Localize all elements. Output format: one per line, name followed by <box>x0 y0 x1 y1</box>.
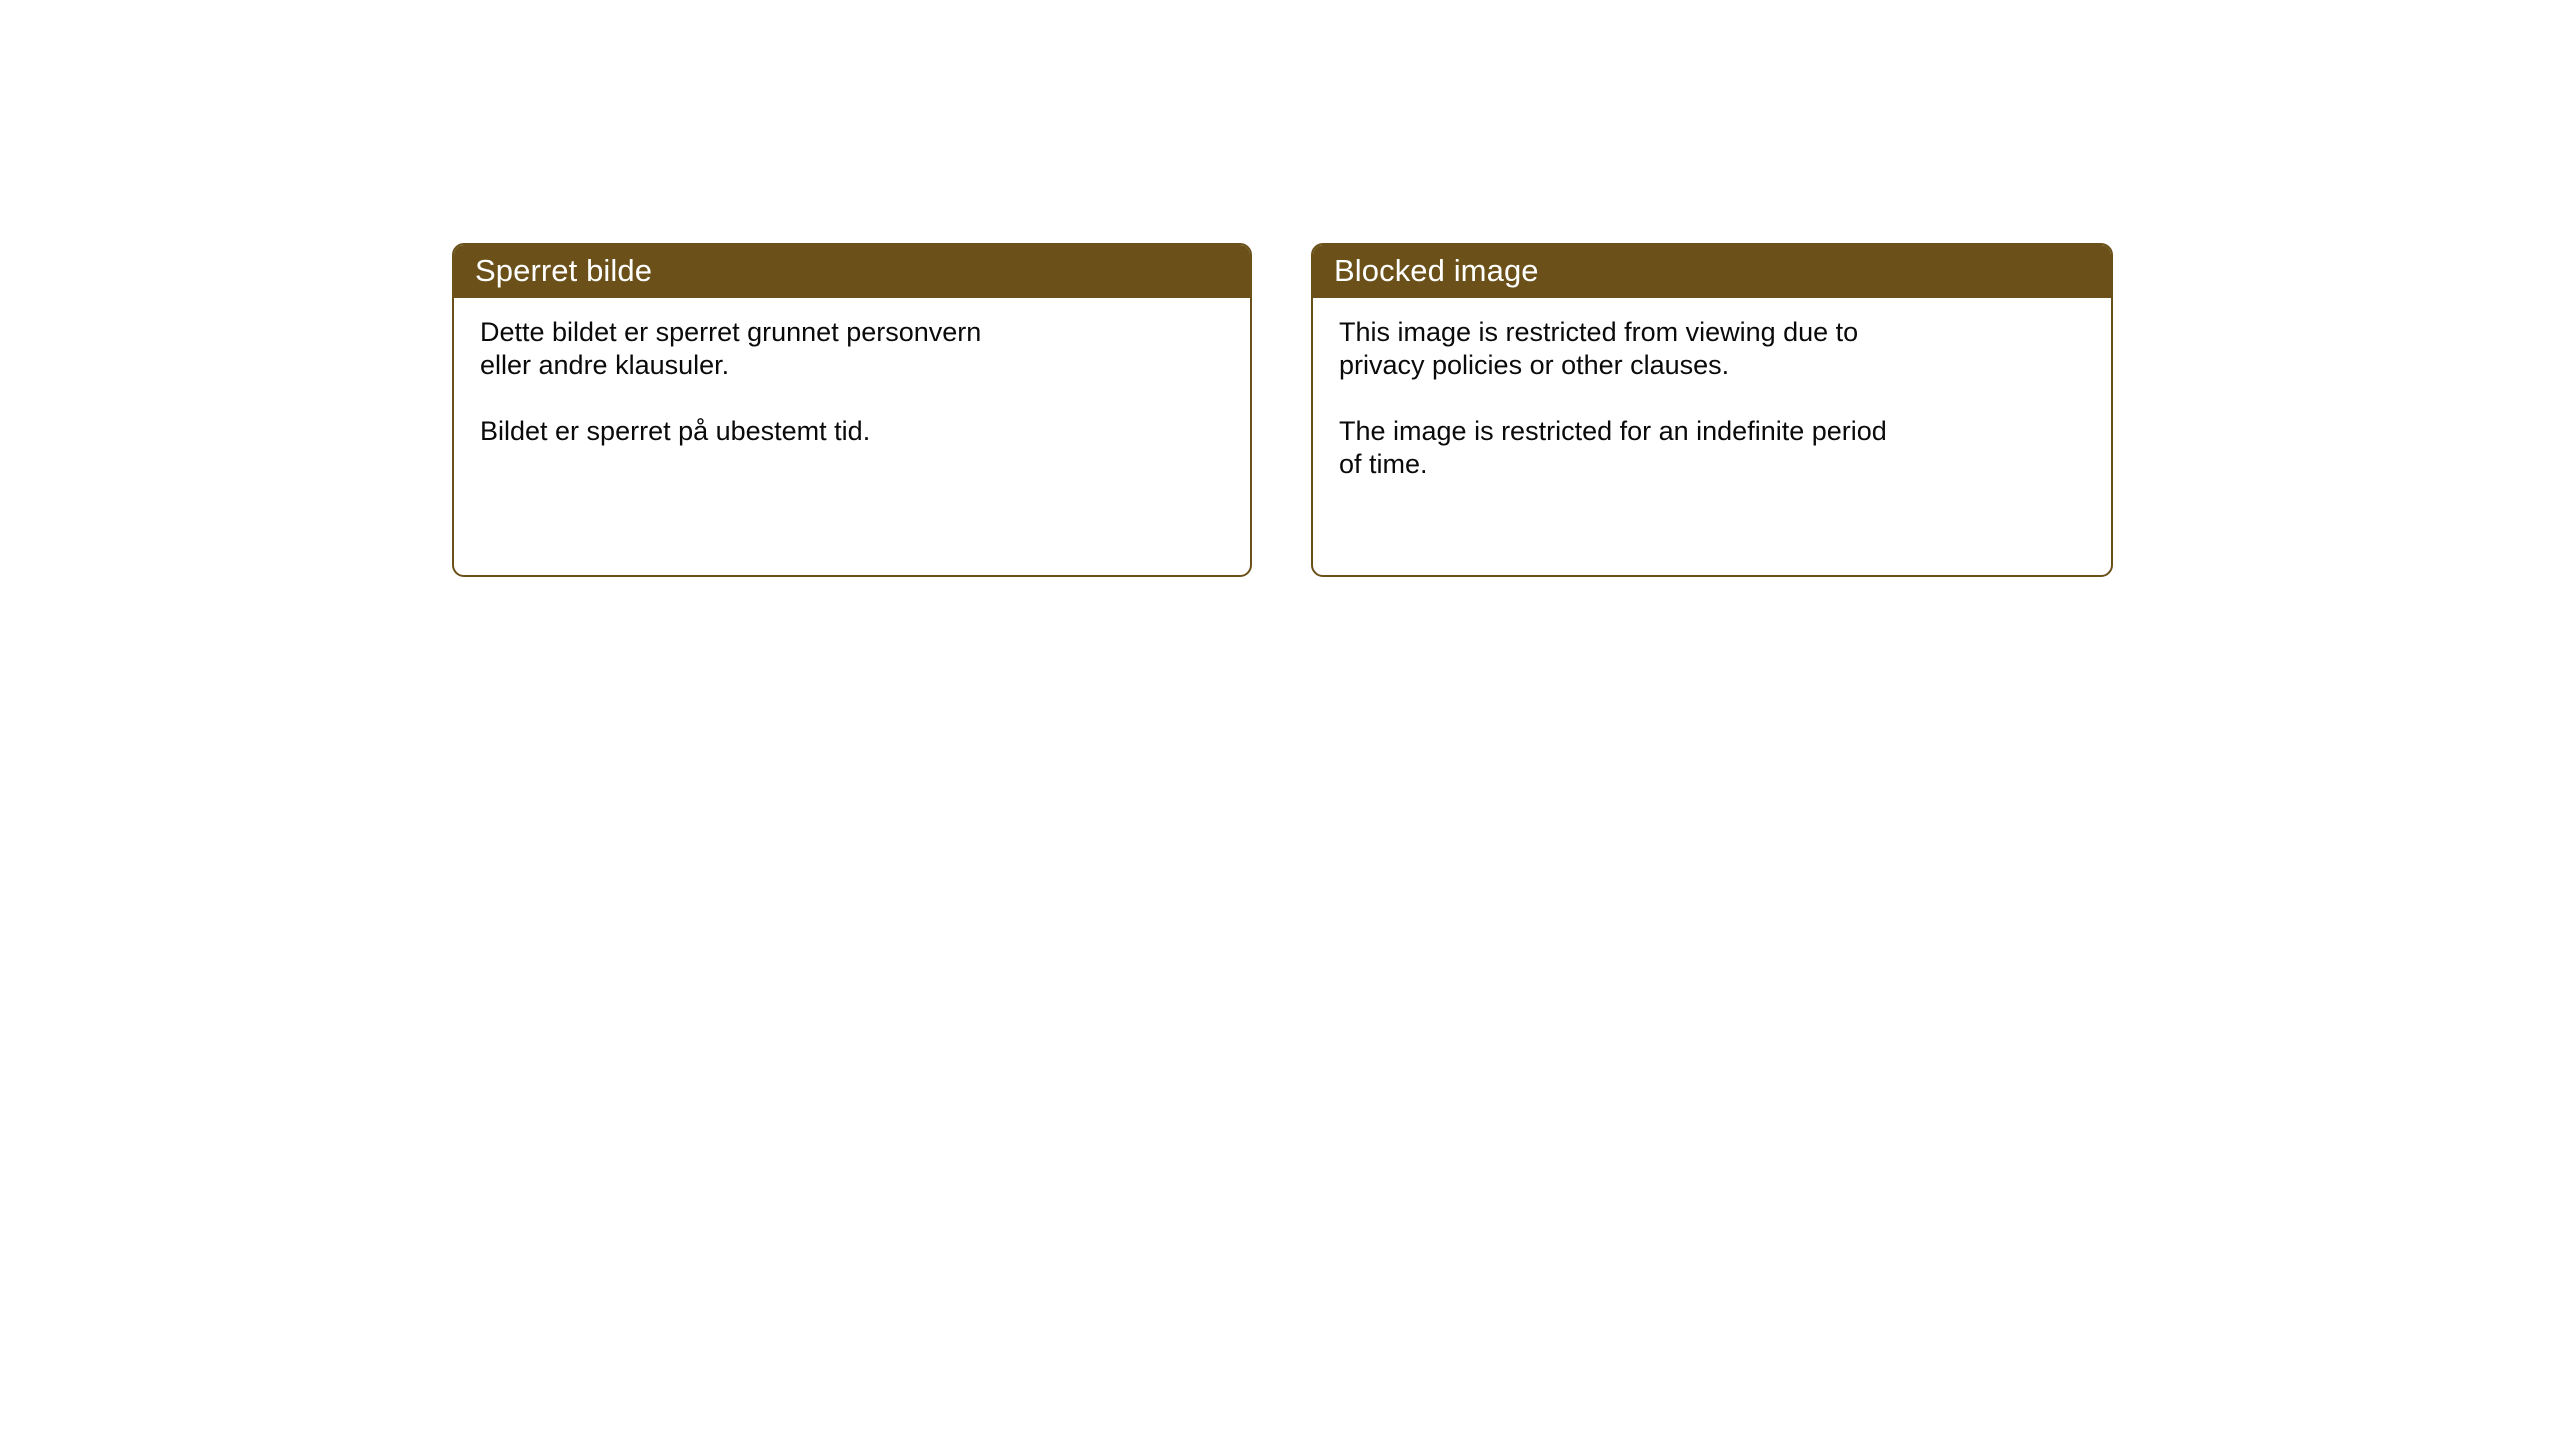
panel-title-english: Blocked image <box>1334 255 1539 286</box>
panel-header-english: Blocked image <box>1311 243 2113 298</box>
page-canvas: Sperret bilde Dette bildet er sperret gr… <box>0 0 2560 1440</box>
panel-paragraph-norwegian-1: Dette bildet er sperret grunnet personve… <box>480 316 1230 382</box>
panel-paragraph-norwegian-2: Bildet er sperret på ubestemt tid. <box>480 415 1230 448</box>
panel-body-english: This image is restricted from viewing du… <box>1313 298 2111 481</box>
panel-paragraph-english-2: The image is restricted for an indefinit… <box>1339 415 2091 481</box>
blocked-image-notice-norwegian: Sperret bilde Dette bildet er sperret gr… <box>452 243 1252 577</box>
panel-header-norwegian: Sperret bilde <box>452 243 1252 298</box>
blocked-image-notice-english: Blocked image This image is restricted f… <box>1311 243 2113 577</box>
panel-paragraph-english-1: This image is restricted from viewing du… <box>1339 316 2091 382</box>
panel-body-norwegian: Dette bildet er sperret grunnet personve… <box>454 298 1250 448</box>
panel-title-norwegian: Sperret bilde <box>475 255 652 286</box>
